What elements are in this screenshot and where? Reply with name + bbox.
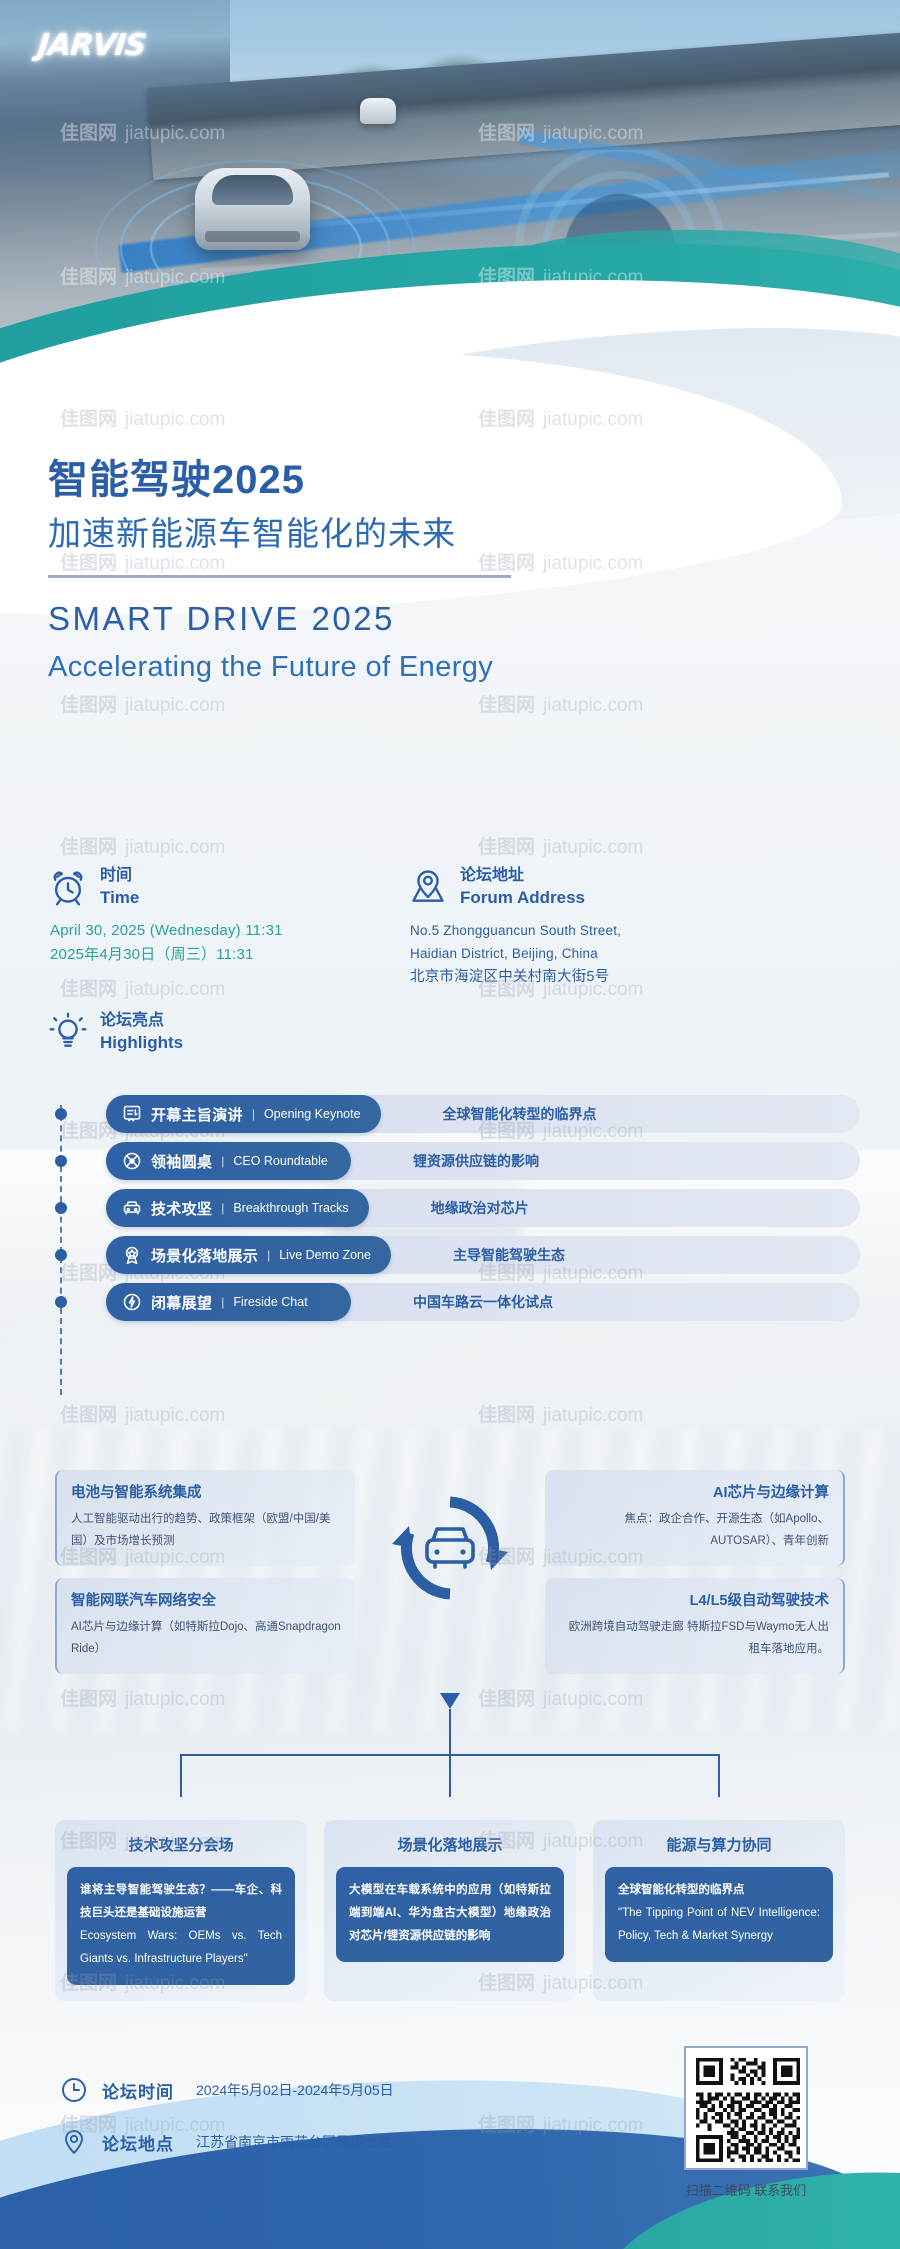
info-row: 时间 Time April 30, 2025 (Wednesday) 11:31… <box>48 865 858 990</box>
badge-icon <box>122 1245 142 1265</box>
highlight-pill-separator: | <box>252 1107 255 1121</box>
feature-card-body-bold: 全球智能化转型的临界点 <box>618 1879 820 1902</box>
highlight-pill-cn: 场景化落地展示 <box>151 1245 258 1266</box>
highlight-pill-cn: 闭幕展望 <box>151 1292 212 1313</box>
footer-time-row: 论坛时间 2024年5月02日-2024年5月05日 <box>60 2076 394 2104</box>
map-pin-icon <box>408 867 448 907</box>
bolt-icon <box>122 1292 142 1312</box>
highlight-pill[interactable]: 闭幕展望 | Fireside Chat <box>106 1283 351 1321</box>
qr-code[interactable] <box>684 2046 808 2170</box>
cycle-card-title: AI芯片与边缘计算 <box>559 1481 829 1502</box>
highlight-pill[interactable]: 技术攻坚 | Breakthrough Tracks <box>106 1189 369 1227</box>
cycle-card: 智能网联汽车网络安全 AI芯片与边缘计算（如特斯拉Dojo、高通Snapdrag… <box>55 1578 355 1674</box>
highlight-topic: 中国车路云一体化试点 <box>413 1292 553 1312</box>
title-divider <box>48 575 511 578</box>
cycle-card-desc: 焦点：政企合作、开源生态（如Apollo、AUTOSAR）、青年创新 <box>559 1508 829 1553</box>
info-address-label-en: Forum Address <box>460 887 585 909</box>
footer-place-value: 江苏省南京市雨花台区凤尾七路 <box>196 2132 392 2152</box>
feature-card-title: 场景化落地展示 <box>336 1834 564 1855</box>
footer-time-label: 论坛时间 <box>102 2078 174 2103</box>
list-item[interactable]: 技术攻坚 | Breakthrough Tracks 地缘政治对芯片 <box>60 1189 860 1227</box>
info-address-labels: 论坛地址 Forum Address <box>460 865 585 909</box>
highlights-label-cn: 论坛亮点 <box>100 1010 183 1032</box>
watermark: 佳图网jiatupic.com <box>478 832 643 859</box>
feature-card: 技术攻坚分会场 谁将主导智能驾驶生态？——车企、科技巨头还是基础设施运营 Eco… <box>55 1820 307 2001</box>
feature-card-body-bold: 大模型在车载系统中的应用（如特斯拉端到端AI、华为盘古大模型）地缘政治对芯片/锂… <box>349 1879 551 1948</box>
qr-caption: 扫描二维码 联系我们 <box>654 2180 838 2199</box>
highlight-pill-separator: | <box>221 1201 224 1215</box>
highlight-pill-en: Live Demo Zone <box>279 1248 371 1262</box>
info-address-header: 论坛地址 Forum Address <box>408 865 828 909</box>
cycle-diagram: 电池与智能系统集成 人工智能驱动出行的趋势、政策框架（欧盟/中国/美国）及市场增… <box>0 1470 900 1700</box>
info-time-body: April 30, 2025 (Wednesday) 11:31 2025年4月… <box>50 919 383 968</box>
watermark: 佳图网jiatupic.com <box>60 690 225 717</box>
feature-card-body-bold: 谁将主导智能驾驶生态？——车企、科技巨头还是基础设施运营 <box>80 1879 282 1925</box>
info-address-line2: Haidian District, Beijing, China <box>410 942 828 965</box>
highlight-pill-separator: | <box>221 1295 224 1309</box>
lightbulb-icon <box>48 1012 88 1052</box>
highlights-labels: 论坛亮点 Highlights <box>100 1010 183 1054</box>
timeline-dot <box>55 1249 67 1261</box>
connector-lines <box>0 1693 900 1803</box>
list-item[interactable]: 领袖圆桌 | CEO Roundtable 锂资源供应链的影响 <box>60 1142 860 1180</box>
highlights-label-en: Highlights <box>100 1032 183 1054</box>
qr-code-image <box>692 2054 804 2166</box>
highlight-pill[interactable]: 场景化落地展示 | Live Demo Zone <box>106 1236 391 1274</box>
info-address-label-cn: 论坛地址 <box>460 865 585 887</box>
info-address-body: No.5 Zhongguancun South Street, Haidian … <box>410 919 828 990</box>
highlight-pill-cn: 开幕主旨演讲 <box>151 1104 243 1125</box>
highlight-pill-en: CEO Roundtable <box>233 1154 328 1168</box>
roundtable-icon <box>122 1151 142 1171</box>
info-time-label-en: Time <box>100 887 139 909</box>
list-item[interactable]: 开幕主旨演讲 | Opening Keynote 全球智能化转型的临界点 <box>60 1095 860 1133</box>
cycle-card: 电池与智能系统集成 人工智能驱动出行的趋势、政策框架（欧盟/中国/美国）及市场增… <box>55 1470 355 1566</box>
cycle-card-title: 电池与智能系统集成 <box>71 1481 341 1502</box>
footer-place-row: 论坛地点 江苏省南京市雨花台区凤尾七路 <box>60 2128 392 2156</box>
highlight-pill-en: Breakthrough Tracks <box>233 1201 348 1215</box>
alarm-clock-icon <box>48 867 88 907</box>
footer-time-value: 2024年5月02日-2024年5月05日 <box>196 2080 394 2100</box>
feature-card-body-text: Ecosystem Wars: OEMs vs. Tech Giants vs.… <box>80 1930 282 1965</box>
highlight-pill-separator: | <box>221 1154 224 1168</box>
info-address-line3: 北京市海淀区中关村南大街5号 <box>410 965 828 990</box>
title-en-sub: Accelerating the Future of Energy <box>48 646 608 688</box>
title-block: 智能驾驶2025 加速新能源车智能化的未来 SMART DRIVE 2025 A… <box>48 455 608 688</box>
info-time-label-cn: 时间 <box>100 865 139 887</box>
timeline-dot <box>55 1155 67 1167</box>
car-front-icon <box>421 1522 479 1574</box>
cycle-card-desc: 人工智能驱动出行的趋势、政策框架（欧盟/中国/美国）及市场增长预测 <box>71 1508 341 1553</box>
cycle-center <box>392 1490 508 1606</box>
highlight-pill-cn: 领袖圆桌 <box>151 1151 212 1172</box>
footer-place-label: 论坛地点 <box>102 2130 174 2155</box>
info-time-block: 时间 Time April 30, 2025 (Wednesday) 11:31… <box>48 865 383 990</box>
car-icon <box>122 1198 142 1218</box>
cycle-card-desc: AI芯片与边缘计算（如特斯拉Dojo、高通Snapdragon Ride） <box>71 1616 341 1661</box>
title-cn-sub: 加速新能源车智能化的未来 <box>48 509 608 559</box>
timeline-dot <box>55 1108 67 1120</box>
title-cn-main: 智能驾驶2025 <box>48 455 608 505</box>
car-hero <box>195 168 310 250</box>
list-item[interactable]: 场景化落地展示 | Live Demo Zone 主导智能驾驶生态 <box>60 1236 860 1274</box>
highlight-pill[interactable]: 领袖圆桌 | CEO Roundtable <box>106 1142 351 1180</box>
info-address-block: 论坛地址 Forum Address No.5 Zhongguancun Sou… <box>408 865 828 990</box>
highlight-pill-separator: | <box>267 1248 270 1262</box>
feature-card-body: 大模型在车载系统中的应用（如特斯拉端到端AI、华为盘古大模型）地缘政治对芯片/锂… <box>336 1867 564 1962</box>
feature-card-title: 技术攻坚分会场 <box>67 1834 295 1855</box>
highlight-pill-cn: 技术攻坚 <box>151 1198 212 1219</box>
info-address-line1: No.5 Zhongguancun South Street, <box>410 919 828 942</box>
watermark: 佳图网jiatupic.com <box>60 832 225 859</box>
timeline-dot <box>55 1296 67 1308</box>
info-time-labels: 时间 Time <box>100 865 139 909</box>
highlight-topic: 主导智能驾驶生态 <box>453 1245 565 1265</box>
info-time-cn: 2025年4月30日（周三）11:31 <box>50 943 383 967</box>
highlights-list: 开幕主旨演讲 | Opening Keynote 全球智能化转型的临界点 领袖圆… <box>60 1095 860 1330</box>
feature-card-body: 谁将主导智能驾驶生态？——车企、科技巨头还是基础设施运营 Ecosystem W… <box>67 1867 295 1985</box>
feature-card: 能源与算力协同 全球智能化转型的临界点 "The Tipping Point o… <box>593 1820 845 2001</box>
feature-cards: 技术攻坚分会场 谁将主导智能驾驶生态？——车企、科技巨头还是基础设施运营 Eco… <box>55 1820 845 2001</box>
keynote-icon <box>122 1104 142 1124</box>
feature-card-body: 全球智能化转型的临界点 "The Tipping Point of NEV In… <box>605 1867 833 1962</box>
poster-root: JARVIS 智能驾驶2025 加速新能源车智能化的未来 SMART DRIVE… <box>0 0 900 2249</box>
clock-icon <box>60 2076 88 2104</box>
highlight-pill-en: Fireside Chat <box>233 1295 307 1309</box>
highlight-pill[interactable]: 开幕主旨演讲 | Opening Keynote <box>106 1095 381 1133</box>
cycle-card: AI芯片与边缘计算 焦点：政企合作、开源生态（如Apollo、AUTOSAR）、… <box>545 1470 845 1566</box>
watermark: 佳图网jiatupic.com <box>478 690 643 717</box>
info-time-header: 时间 Time <box>48 865 383 909</box>
highlights-header: 论坛亮点 Highlights <box>48 1010 183 1054</box>
highlight-topic: 全球智能化转型的临界点 <box>443 1104 597 1124</box>
brand-logo: JARVIS <box>36 28 147 63</box>
cycle-card-desc: 欧洲跨境自动驾驶走廊 特斯拉FSD与Waymo无人出租车落地应用。 <box>559 1616 829 1661</box>
cycle-card-title: L4/L5级自动驾驶技术 <box>559 1589 829 1610</box>
car-distant <box>360 98 396 124</box>
feature-card: 场景化落地展示 大模型在车载系统中的应用（如特斯拉端到端AI、华为盘古大模型）地… <box>324 1820 576 2001</box>
title-en-main: SMART DRIVE 2025 <box>48 598 608 641</box>
feature-card-title: 能源与算力协同 <box>605 1834 833 1855</box>
highlight-topic: 锂资源供应链的影响 <box>413 1151 539 1171</box>
info-time-en: April 30, 2025 (Wednesday) 11:31 <box>50 919 383 943</box>
list-item[interactable]: 闭幕展望 | Fireside Chat 中国车路云一体化试点 <box>60 1283 860 1321</box>
highlight-topic: 地缘政治对芯片 <box>431 1198 529 1218</box>
cycle-card: L4/L5级自动驾驶技术 欧洲跨境自动驾驶走廊 特斯拉FSD与Waymo无人出租… <box>545 1578 845 1674</box>
highlight-pill-en: Opening Keynote <box>264 1107 361 1121</box>
feature-card-body-text: "The Tipping Point of NEV Intelligence: … <box>618 1907 820 1942</box>
cycle-card-title: 智能网联汽车网络安全 <box>71 1589 341 1610</box>
timeline-dot <box>55 1202 67 1214</box>
location-pin-icon <box>60 2128 88 2156</box>
